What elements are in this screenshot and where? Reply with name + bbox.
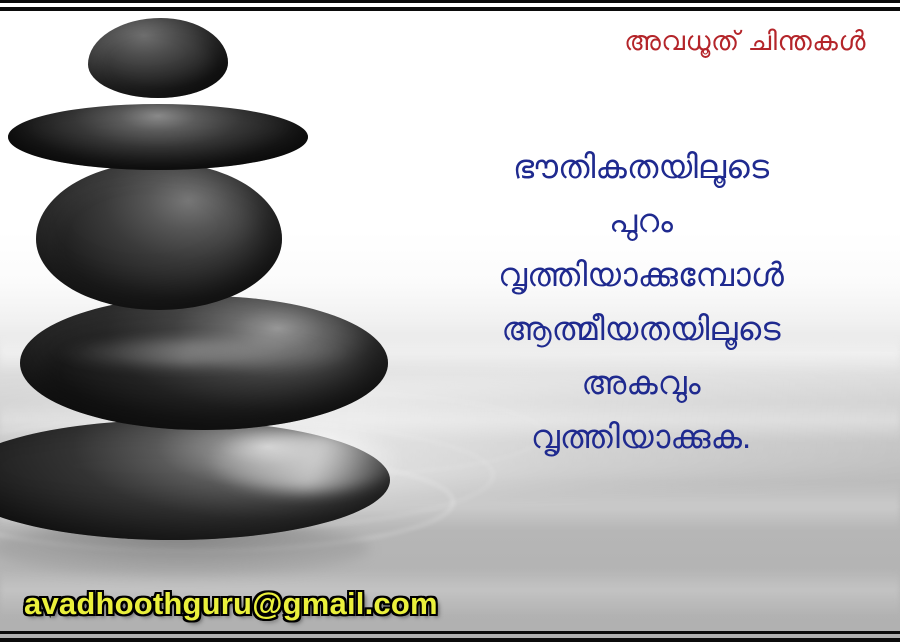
border-top-outer bbox=[0, 0, 900, 3]
quote-line-5: അകവും bbox=[400, 366, 882, 399]
stone-base-highlight bbox=[210, 432, 400, 492]
poster-canvas: അവധൂത് ചിന്തകൾ ഭൗതികതയിലൂടെ പുറം വൃത്തിയ… bbox=[0, 0, 900, 642]
quote-line-2: പുറം bbox=[400, 204, 882, 237]
border-top-inner bbox=[0, 7, 900, 11]
page-title: അവധൂത് ചിന്തകൾ bbox=[624, 27, 866, 57]
border-bottom-outer bbox=[0, 638, 900, 642]
stone-second-disc bbox=[8, 104, 308, 170]
quote-block: ഭൗതികതയിലൂടെ പുറം വൃത്തിയാക്കുമ്പോൾ ആത്മ… bbox=[400, 150, 882, 453]
stone-third bbox=[36, 162, 282, 310]
quote-line-3: വൃത്തിയാക്കുമ്പോൾ bbox=[400, 258, 882, 291]
stone-top-pebble bbox=[88, 18, 228, 98]
contact-email[interactable]: avadhoothguru@gmail.com bbox=[24, 586, 438, 622]
zen-stone-cairn-image bbox=[0, 0, 430, 600]
stone-fourth-highlight bbox=[54, 340, 354, 366]
quote-line-6: വൃത്തിയാക്കുക. bbox=[400, 420, 882, 453]
border-bottom-inner bbox=[0, 631, 900, 634]
quote-line-1: ഭൗതികതയിലൂടെ bbox=[400, 150, 882, 183]
quote-line-4: ആത്മീയതയിലൂടെ bbox=[400, 312, 882, 345]
